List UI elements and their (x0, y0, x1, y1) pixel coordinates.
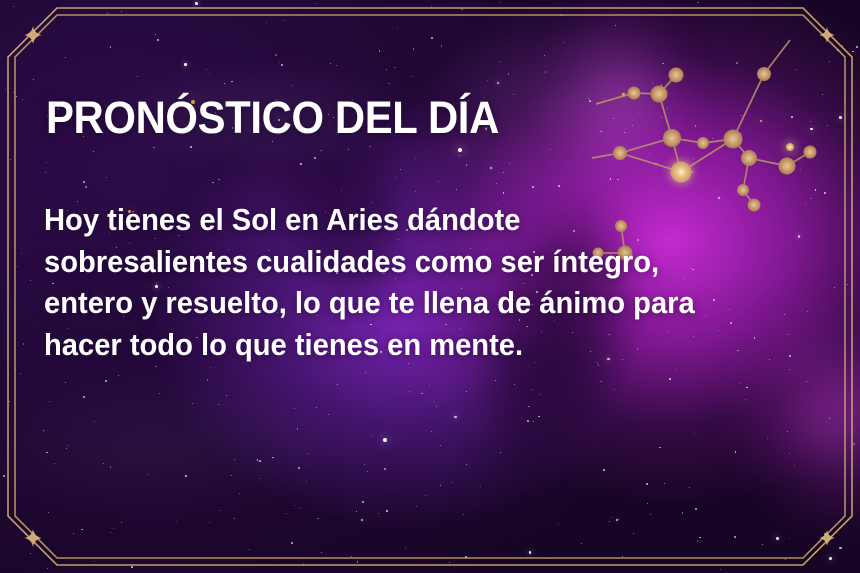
horoscope-card: PRONÓSTICO DEL DÍA Hoy tienes el Sol en … (0, 0, 860, 573)
card-content: PRONÓSTICO DEL DÍA Hoy tienes el Sol en … (0, 0, 860, 573)
forecast-body-line: Hoy tienes el Sol en Aries dándote (44, 203, 520, 237)
forecast-body-line: hacer todo lo que tienes en mente. (44, 328, 523, 362)
forecast-body-line: sobresalientes cualidades como ser ínteg… (44, 245, 659, 279)
forecast-body-line: entero y resuelto, lo que te llena de án… (44, 286, 695, 320)
forecast-body-text: Hoy tienes el Sol en Aries dándotesobres… (44, 200, 798, 366)
page-title: PRONÓSTICO DEL DÍA (46, 92, 499, 144)
